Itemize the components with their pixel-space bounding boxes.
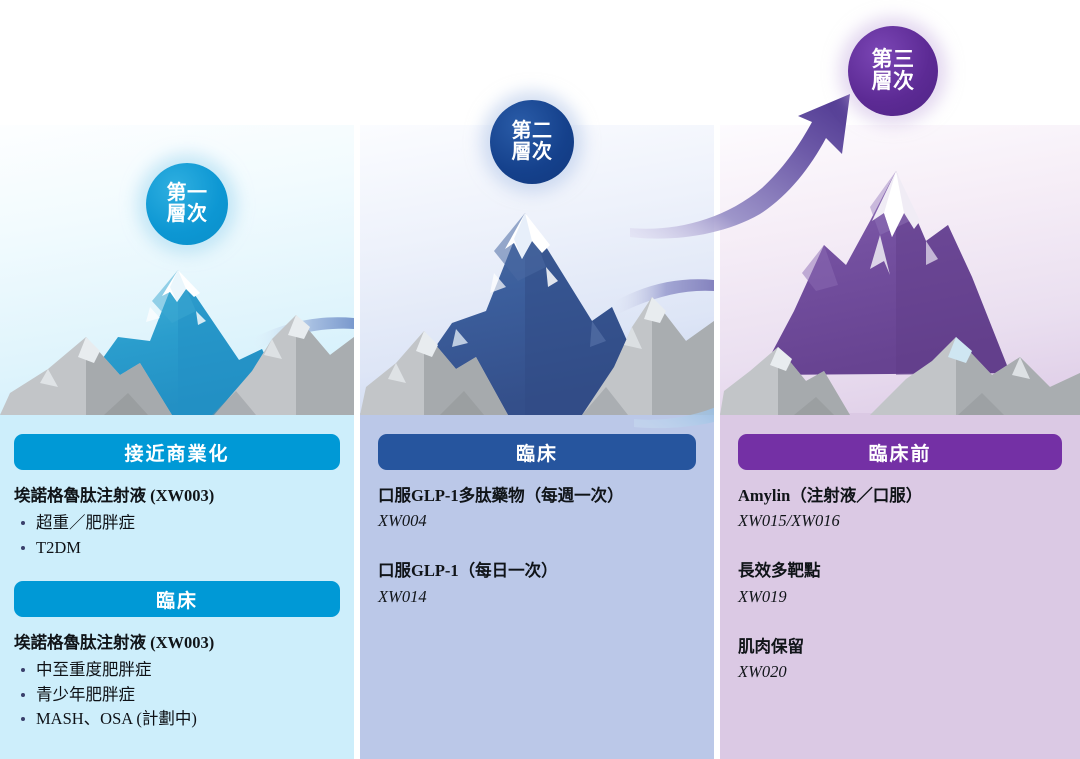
badge-line-1: 第二 xyxy=(512,121,553,142)
tier-three-group-2: 長效多靶點 XW019 xyxy=(738,560,1062,607)
list-item: 中至重度肥胖症 xyxy=(14,658,340,682)
tier-one-content: 接近商業化 埃諾格魯肽注射液 (XW003) 超重／肥胖症 T2DM 臨床 埃諾… xyxy=(0,413,354,759)
drug-name: 埃諾格魯肽注射液 (XW003) xyxy=(14,632,340,654)
tier-three-group-1: Amylin（注射液／口服） XW015/XW016 xyxy=(738,485,1062,532)
tier-two-group-1: 口服GLP-1多肽藥物（每週一次） XW004 xyxy=(378,485,696,532)
drug-name: Amylin（注射液／口服） xyxy=(738,485,1062,507)
tier-one-group-1: 埃諾格魯肽注射液 (XW003) 超重／肥胖症 T2DM xyxy=(14,485,340,560)
badge-line-2: 層次 xyxy=(167,204,208,225)
drug-name: 口服GLP-1多肽藥物（每週一次） xyxy=(378,485,696,507)
drug-code: XW015/XW016 xyxy=(738,509,1062,532)
drug-name: 長效多靶點 xyxy=(738,560,1062,582)
badge-line-2: 層次 xyxy=(512,142,553,163)
list-item: 青少年肥胖症 xyxy=(14,683,340,707)
drug-code: XW004 xyxy=(378,509,696,532)
drug-code: XW019 xyxy=(738,585,1062,608)
badge-tier-three: 第三 層次 xyxy=(848,26,938,116)
badge-line-1: 第一 xyxy=(167,183,208,204)
badge-tier-two: 第二 層次 xyxy=(490,100,574,184)
list-item: MASH、OSA (計劃中) xyxy=(14,707,340,731)
tier-three-panel: 臨床前 Amylin（注射液／口服） XW015/XW016 長效多靶點 XW0… xyxy=(720,125,1080,759)
tier-two-content: 臨床 口服GLP-1多肽藥物（每週一次） XW004 口服GLP-1（每日一次）… xyxy=(360,413,714,759)
tier-one-pill-1[interactable]: 接近商業化 xyxy=(14,434,340,470)
list-item: T2DM xyxy=(14,536,340,560)
drug-name: 口服GLP-1（每日一次） xyxy=(378,560,696,582)
tier-one-pill-2[interactable]: 臨床 xyxy=(14,581,340,617)
badge-tier-one: 第一 層次 xyxy=(146,163,228,245)
tier-three-mountain-art xyxy=(720,125,1080,415)
tier-one-group-2: 埃諾格魯肽注射液 (XW003) 中至重度肥胖症 青少年肥胖症 MASH、OSA… xyxy=(14,632,340,731)
badge-line-1: 第三 xyxy=(872,49,915,71)
badge-line-2: 層次 xyxy=(872,71,915,93)
tier-two-pill-1[interactable]: 臨床 xyxy=(378,434,696,470)
tier-three-content: 臨床前 Amylin（注射液／口服） XW015/XW016 長效多靶點 XW0… xyxy=(720,413,1080,759)
tier-three-group-3: 肌肉保留 XW020 xyxy=(738,636,1062,683)
indication-list: 超重／肥胖症 T2DM xyxy=(14,511,340,560)
tier-three-pill-1[interactable]: 臨床前 xyxy=(738,434,1062,470)
tier-two-group-2: 口服GLP-1（每日一次） XW014 xyxy=(378,560,696,607)
pipeline-infographic: 接近商業化 埃諾格魯肽注射液 (XW003) 超重／肥胖症 T2DM 臨床 埃諾… xyxy=(0,0,1080,759)
drug-code: XW014 xyxy=(378,585,696,608)
indication-list: 中至重度肥胖症 青少年肥胖症 MASH、OSA (計劃中) xyxy=(14,658,340,731)
tier-two-panel: 臨床 口服GLP-1多肽藥物（每週一次） XW004 口服GLP-1（每日一次）… xyxy=(360,125,714,759)
drug-code: XW020 xyxy=(738,660,1062,683)
drug-name: 肌肉保留 xyxy=(738,636,1062,658)
list-item: 超重／肥胖症 xyxy=(14,511,340,535)
drug-name: 埃諾格魯肽注射液 (XW003) xyxy=(14,485,340,507)
